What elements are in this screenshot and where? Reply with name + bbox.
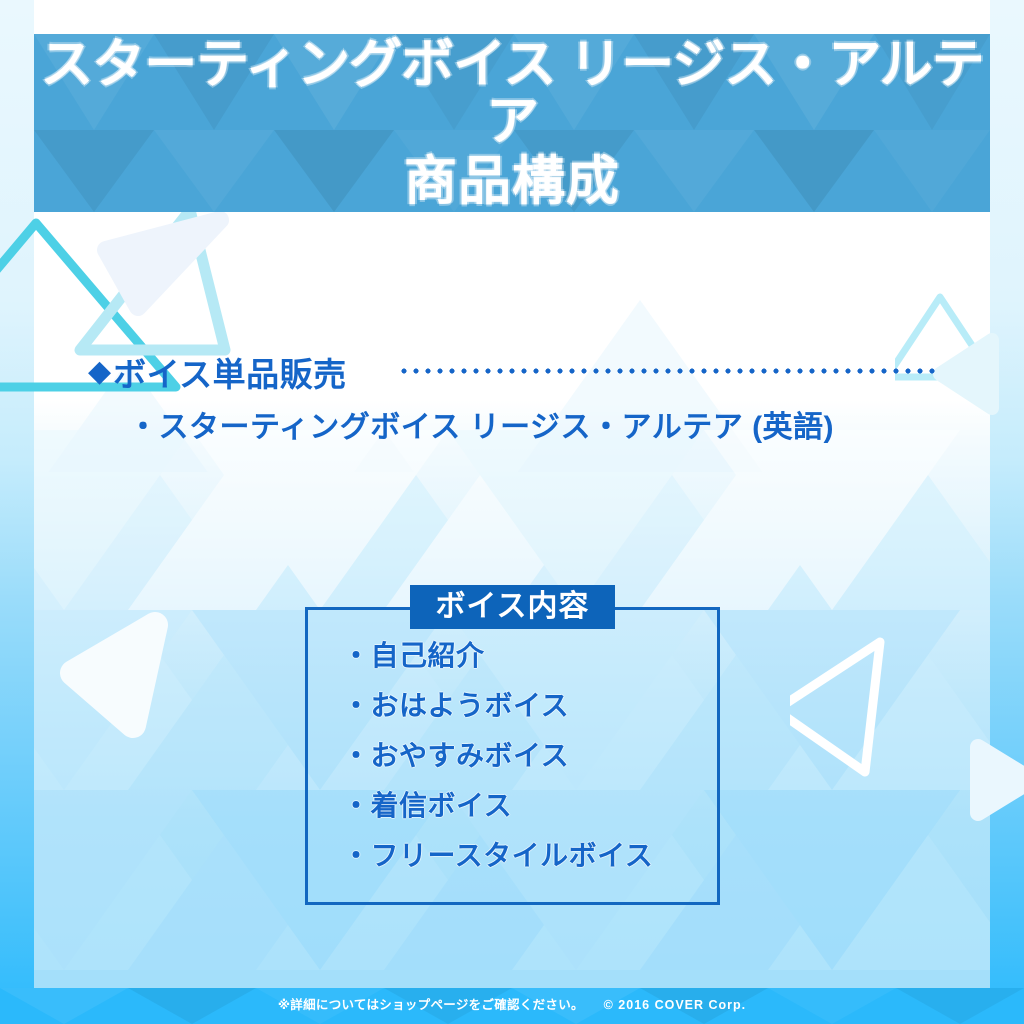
voice-content-tab-label: ボイス内容 [435,592,589,622]
right-edge-strip [990,0,1024,1024]
page-title-line1: スターティングボイス リージス・アルテア [34,36,990,150]
page-title: スターティングボイス リージス・アルテア 商品構成 [34,34,990,212]
voice-content-list: ・自己紹介 ・おはようボイス ・おやすみボイス ・着信ボイス ・フリースタイルボ… [342,642,653,870]
dotted-leader-line [398,368,938,374]
list-item: ・自己紹介 [342,642,653,670]
list-item: ・おはようボイス [342,692,653,720]
footer-note: ※詳細についてはショップページをご確認ください。 [278,998,584,1012]
list-item: ・着信ボイス [342,792,653,820]
voice-single-sale-item: ・スターティングボイス リージス・アルテア (英語) [128,402,834,446]
page-title-line2: 商品構成 [404,153,620,210]
footer-text: ※詳細についてはショップページをご確認ください。 © 2016 COVER Co… [0,994,1024,1013]
voice-single-sale-heading: ◆ ボイス単品販売 [88,348,347,396]
left-edge-strip [0,0,34,1024]
poster-canvas: スターティングボイス リージス・アルテア 商品構成 ◆ ボイス単品販売 ・スター… [0,0,1024,1024]
diamond-bullet-icon: ◆ [88,357,111,387]
list-item: ・フリースタイルボイス [342,842,653,870]
footer-copyright: © 2016 COVER Corp. [604,998,747,1012]
voice-content-tab: ボイス内容 [410,585,615,629]
voice-single-sale-label: ボイス単品販売 [113,348,347,396]
list-item: ・おやすみボイス [342,742,653,770]
